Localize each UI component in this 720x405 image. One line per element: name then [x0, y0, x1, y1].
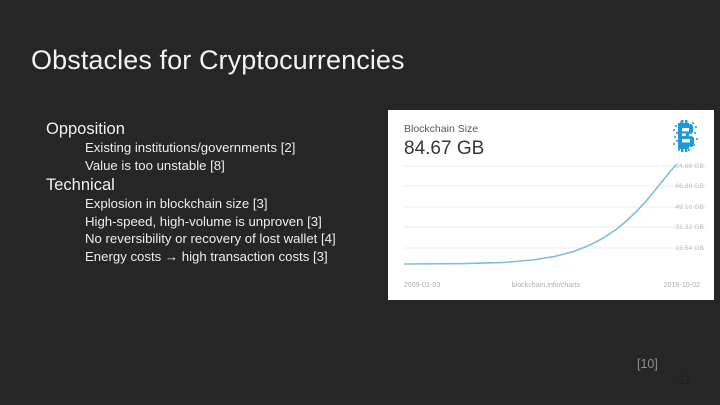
chart-title: Blockchain Size: [404, 123, 484, 136]
chart-current-value: 84.67 GB: [404, 137, 484, 161]
citation-reference: [10]: [637, 357, 658, 371]
page-title: Obstacles for Cryptocurrencies: [31, 45, 405, 76]
list-item-level2: Existing institutions/governments [2]: [46, 139, 376, 157]
chart-gridlines: [404, 166, 706, 248]
list-item-level2: Energy costs → high transaction costs [3…: [46, 248, 376, 266]
bitcoin-logo-icon: [670, 120, 700, 152]
presentation-slide: Obstacles for Cryptocurrencies Oppositio…: [0, 0, 720, 405]
slide-number: 11: [678, 372, 692, 387]
chart-line-series: [404, 165, 676, 264]
list-item-level2: High-speed, high-volume is unproven [3]: [46, 213, 376, 231]
list-item-level2: Explosion in blockchain size [3]: [46, 195, 376, 213]
list-item-level1: Technical: [46, 175, 376, 195]
list-item-level1: Opposition: [46, 119, 376, 139]
chart-footer: 2009-01-03 blockchain.info/charts 2016-1…: [404, 282, 700, 289]
chart-header: Blockchain Size 84.67 GB: [404, 123, 484, 161]
x-axis-start-label: 2009-01-03: [404, 282, 440, 289]
list-item-level2: Value is too unstable [8]: [46, 157, 376, 175]
chart-plot-area: [404, 164, 706, 268]
blockchain-size-chart-card: Blockchain Size 84.67 GB: [388, 110, 714, 300]
x-axis-end-label: 2016-10-02: [664, 282, 700, 289]
chart-source-label: blockchain.info/charts: [512, 282, 580, 289]
list-item-level2: No reversibility or recovery of lost wal…: [46, 230, 376, 248]
outline-list: Opposition Existing institutions/governm…: [46, 118, 376, 266]
